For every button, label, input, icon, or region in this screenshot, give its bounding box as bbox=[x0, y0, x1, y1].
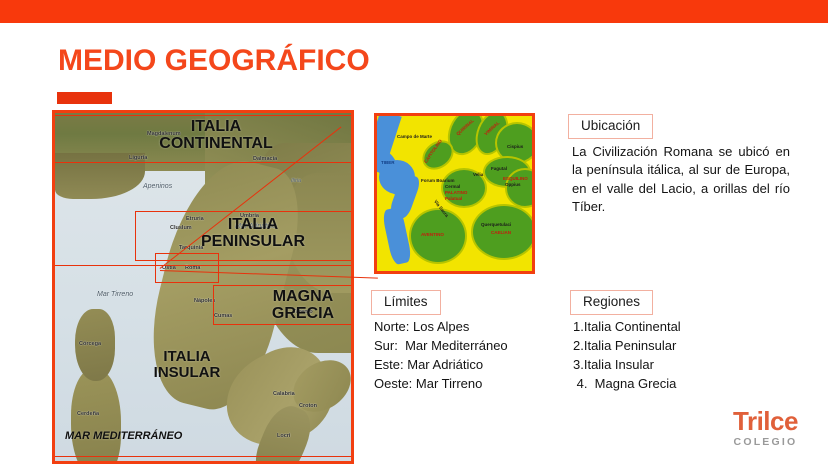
top-orange-band bbox=[0, 0, 828, 23]
map-label-peninsular-line2: PENINSULAR bbox=[201, 233, 305, 250]
inset-label-forum: Forum Boarium bbox=[421, 178, 455, 183]
page-title: MEDIO GEOGRÁFICO bbox=[58, 44, 370, 78]
list-item: Sur: Mar Mediterráneo bbox=[374, 337, 508, 356]
inset-label-querquetulaci: Querquetulaci bbox=[481, 222, 511, 227]
inset-label-aventino: AVENTINO bbox=[421, 232, 444, 237]
inset-label-velia: Velia bbox=[473, 172, 483, 177]
inset-label-cermal: Cermal bbox=[445, 184, 460, 189]
map-label-continental-line2: CONTINENTAL bbox=[159, 135, 272, 152]
list-limites: Norte: Los Alpes Sur: Mar Mediterráneo E… bbox=[374, 318, 508, 393]
river-tiber-bend bbox=[379, 160, 415, 194]
map-label-italia-continental: ITALIA CONTINENTAL bbox=[131, 119, 301, 153]
inset-label-tiber: TIBER bbox=[381, 160, 395, 165]
map-range-apeninos: Apeninos bbox=[143, 183, 172, 190]
heading-ubicacion: Ubicación bbox=[568, 114, 653, 139]
inset-label-caelian: CAELIAN bbox=[491, 230, 511, 235]
inset-label-esquilino: ESQUILINO bbox=[503, 176, 528, 181]
inset-label-palatino: PALATINO bbox=[445, 190, 467, 195]
river-tiber-seg4 bbox=[381, 207, 412, 266]
map-label-magna-line1: MAGNA bbox=[273, 288, 333, 305]
map-label-magna-grecia: MAGNA GRECIA bbox=[253, 289, 353, 323]
map-sea-jonico: Mar Jónico bbox=[293, 463, 327, 464]
map-canvas: Liguria Magdalenum Etruria Cluslum Tarqu… bbox=[55, 113, 351, 461]
heading-limites: Límites bbox=[371, 290, 441, 315]
trilce-logo: Trilce COLEGIO bbox=[733, 408, 798, 448]
map-label-mar-mediterraneo: MAR MEDITERRÁNEO bbox=[65, 431, 182, 443]
list-item: 1.Italia Continental bbox=[573, 318, 681, 337]
list-regiones: 1.Italia Continental 2.Italia Peninsular… bbox=[573, 318, 681, 393]
list-item: 3.Italia Insular bbox=[573, 356, 681, 375]
inset-label-cispius: Cispius bbox=[507, 144, 523, 149]
body-ubicacion: La Civilización Romana se ubicó en la pe… bbox=[572, 143, 790, 217]
map-label-continental-line1: ITALIA bbox=[191, 118, 241, 135]
map-label-insular-line1: ITALIA bbox=[163, 348, 210, 365]
heading-regiones: Regiones bbox=[570, 290, 653, 315]
slide-root: MEDIO GEOGRÁFICO Liguria Magdalenum Etru… bbox=[0, 0, 828, 466]
map-label-magna-line2: GRECIA bbox=[272, 305, 334, 322]
logo-wordmark: Trilce bbox=[733, 408, 798, 434]
map-label-italia-insular: ITALIA INSULAR bbox=[127, 349, 247, 381]
map-italy-main[interactable]: Liguria Magdalenum Etruria Cluslum Tarqu… bbox=[52, 110, 354, 464]
region-box-roma-detail bbox=[155, 253, 219, 283]
inset-label-campo-de-marte: Campo de Marte bbox=[397, 134, 432, 139]
list-item: Oeste: Mar Tirreno bbox=[374, 375, 508, 394]
hill-esquilino bbox=[505, 168, 535, 208]
list-item: Este: Mar Adriático bbox=[374, 356, 508, 375]
inset-label-fagutal: Fagutal bbox=[491, 166, 507, 171]
map-rome-seven-hills-inset[interactable]: Campo de Marte TIBER QUIRINAL VIMINAL CA… bbox=[374, 113, 535, 274]
list-item: 4. Magna Grecia bbox=[573, 375, 681, 394]
list-item: Norte: Los Alpes bbox=[374, 318, 508, 337]
map-label-italia-peninsular: ITALIA PENINSULAR bbox=[173, 217, 333, 251]
inset-label-palatual: Palatual bbox=[445, 196, 462, 201]
logo-subtitle: COLEGIO bbox=[733, 436, 798, 448]
map-label-insular-line2: INSULAR bbox=[154, 364, 221, 381]
inset-label-oppius: Oppius bbox=[505, 182, 521, 187]
list-item: 2.Italia Peninsular bbox=[573, 337, 681, 356]
title-accent-bar bbox=[57, 92, 112, 104]
map-label-peninsular-line1: ITALIA bbox=[228, 216, 278, 233]
map-place-iliria: Iliria bbox=[291, 178, 301, 184]
